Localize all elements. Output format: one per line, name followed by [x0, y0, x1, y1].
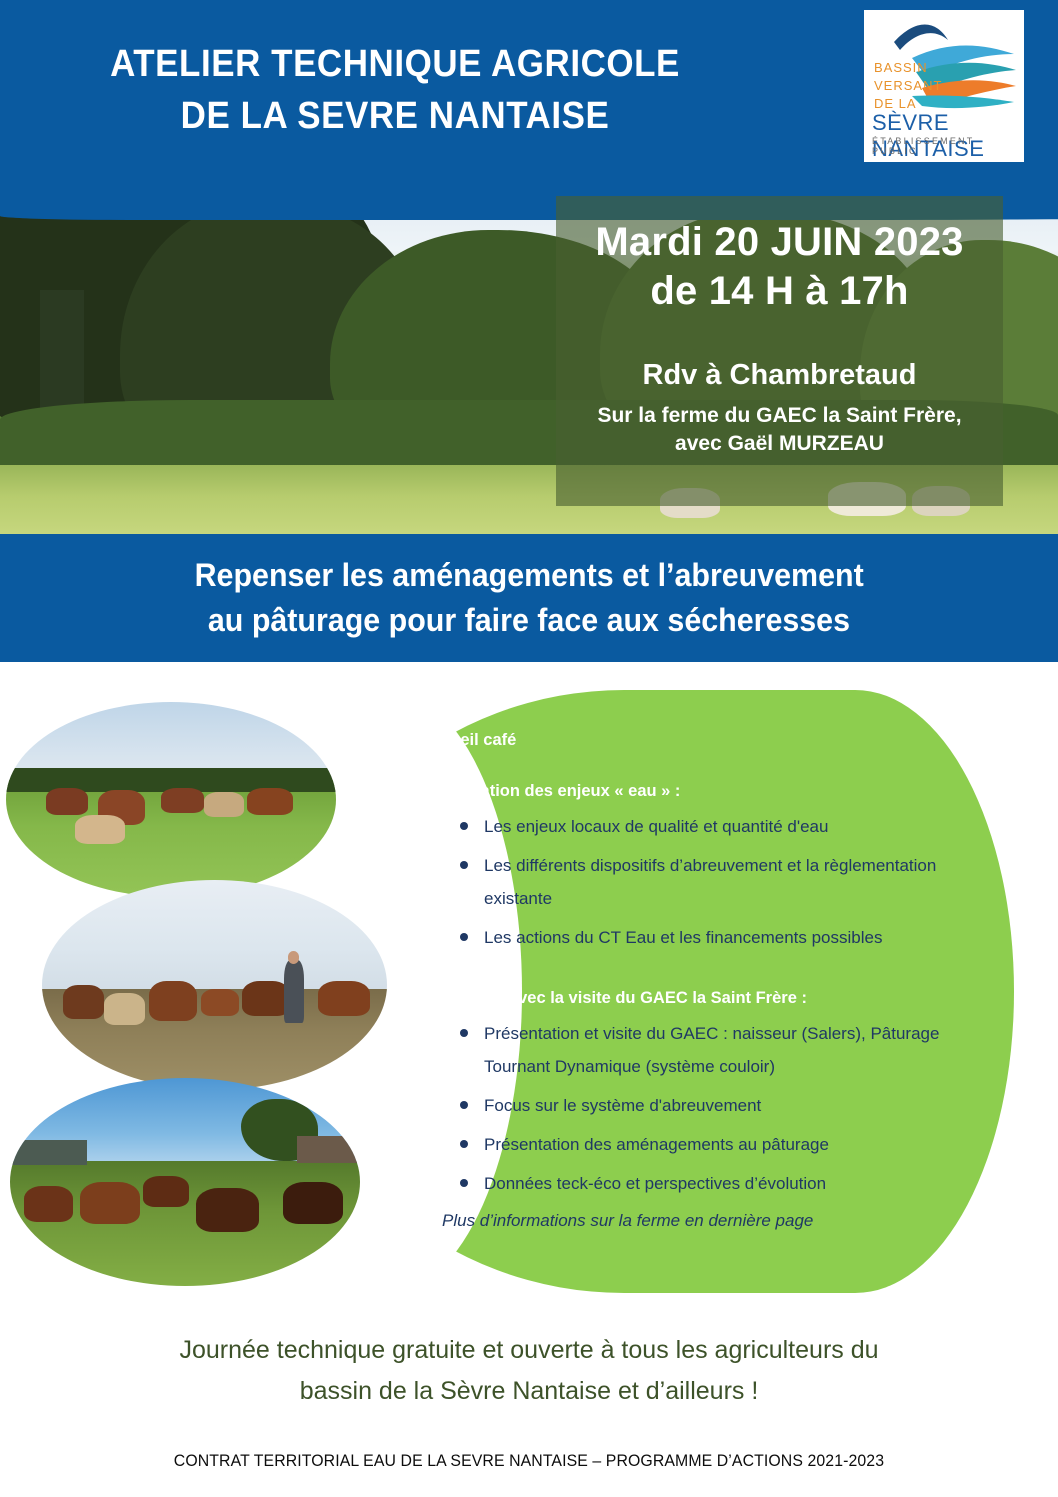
program-section1-list: Les enjeux locaux de qualité et quantité… [420, 810, 960, 955]
oval1-cow-1 [46, 788, 89, 815]
program-welcome: Accueil café [420, 728, 960, 753]
oval2-cow-3 [149, 981, 197, 1021]
closing-line-2: bassin de la Sèvre Nantaise et d’ailleur… [0, 1371, 1058, 1412]
sevre-nantaise-logo: BASSIN VERSANT DE LA SÈVRE NANTAISE ÉTAB… [864, 10, 1024, 162]
list-item-label: Les actions du CT Eau et les financement… [484, 928, 882, 947]
event-farm-line2: avec Gaël MURZEAU [568, 430, 991, 458]
program-content: Accueil café Présentation des enjeux « e… [420, 728, 960, 1235]
oval3-cow-1 [24, 1186, 73, 1221]
subtitle-banner: Repenser les aménagements et l’abreuveme… [0, 534, 1058, 662]
list-item: Focus sur le système d'abreuvement [420, 1089, 960, 1122]
photo-herd-in-pasture [6, 702, 336, 897]
program-section2-list: Présentation et visite du GAEC : naisseu… [420, 1017, 960, 1201]
title-line-1: ATELIER TECHNIQUE AGRICOLE [32, 38, 759, 90]
subtitle-line-1: Repenser les aménagements et l’abreuveme… [194, 553, 863, 598]
oval2-sky [42, 880, 387, 993]
oval3-cow-4 [196, 1188, 259, 1232]
oval2-cow-2 [104, 993, 145, 1025]
bullet-dot-icon [460, 1140, 468, 1148]
program-note: Plus d’informations sur la ferme en dern… [420, 1207, 960, 1236]
photo-cattle-grazing-near-barn [10, 1078, 360, 1286]
oval3-cow-3 [143, 1176, 189, 1207]
list-item: Les actions du CT Eau et les financement… [420, 921, 960, 954]
title-line-2: DE LA SEVRE NANTAISE [32, 90, 759, 142]
oval2-cow-1 [63, 985, 104, 1019]
footer: CONTRAT TERRITORIAL EAU DE LA SEVRE NANT… [0, 1452, 1058, 1471]
event-time: de 14 H à 17h [556, 267, 1003, 316]
program-section2-heading: Illustration avec la visite du GAEC la S… [420, 986, 960, 1011]
program-section1-heading: Présentation des enjeux « eau » : [420, 779, 960, 804]
footer-text: CONTRAT TERRITORIAL EAU DE LA SEVRE NANT… [174, 1452, 884, 1471]
list-item: Les différents dispositifs d’abreuvement… [420, 849, 960, 915]
oval1-cow-4 [161, 788, 204, 813]
list-item: Présentation des aménagements au pâturag… [420, 1128, 960, 1161]
oval3-barn-right [297, 1136, 360, 1163]
program-spacer-1 [420, 753, 960, 779]
bullet-dot-icon [460, 822, 468, 830]
oval3-barn [10, 1140, 87, 1165]
list-item: Données teck-éco et perspectives d’évolu… [420, 1167, 960, 1200]
oval3-cow-2 [80, 1182, 140, 1224]
photo-farmer-with-herd [42, 880, 387, 1090]
program-spacer-2 [420, 960, 960, 986]
list-item: Présentation et visite du GAEC : naisseu… [420, 1017, 960, 1083]
list-item-label: Présentation et visite du GAEC : naisseu… [484, 1024, 939, 1076]
subtitle-line-2: au pâturage pour faire face aux sécheres… [208, 598, 850, 643]
list-item-label: Données teck-éco et perspectives d’évolu… [484, 1174, 826, 1193]
list-item: Les enjeux locaux de qualité et quantité… [420, 810, 960, 843]
oval2-cow-4 [201, 989, 239, 1016]
oval1-cow-6 [247, 788, 293, 815]
logo-text-subtitle: ÉTABLISSEMENT PUBLIC [872, 136, 1024, 156]
oval2-farmer [284, 960, 305, 1023]
logo-text-dela: DE LA [874, 96, 917, 111]
list-item-label: Focus sur le système d'abreuvement [484, 1096, 761, 1115]
closing-message: Journée technique gratuite et ouverte à … [0, 1330, 1058, 1411]
logo-text-versant: VERSANT [874, 78, 942, 93]
bullet-dot-icon [460, 933, 468, 941]
oval1-cow-5 [204, 792, 244, 817]
oval1-cow-3 [75, 815, 125, 844]
bullet-dot-icon [460, 861, 468, 869]
logo-text-bassin: BASSIN [874, 60, 928, 75]
list-item-label: Présentation des aménagements au pâturag… [484, 1135, 829, 1154]
list-item-label: Les différents dispositifs d’abreuvement… [484, 856, 936, 908]
list-item-label: Les enjeux locaux de qualité et quantité… [484, 817, 828, 836]
oval3-cow-5 [283, 1182, 343, 1224]
closing-line-1: Journée technique gratuite et ouverte à … [0, 1330, 1058, 1371]
bullet-dot-icon [460, 1101, 468, 1109]
event-farm-line1: Sur la ferme du GAEC la Saint Frère, [568, 402, 991, 430]
page-title: ATELIER TECHNIQUE AGRICOLE DE LA SEVRE N… [0, 38, 790, 143]
bullet-dot-icon [460, 1029, 468, 1037]
event-date: Mardi 20 JUIN 2023 [556, 218, 1003, 267]
event-meeting-point: Rdv à Chambretaud [556, 358, 1003, 393]
event-farm-info: Sur la ferme du GAEC la Saint Frère, ave… [556, 402, 1003, 457]
bullet-dot-icon [460, 1179, 468, 1187]
oval2-cow-6 [318, 981, 370, 1017]
event-details-panel: Mardi 20 JUIN 2023 de 14 H à 17h Rdv à C… [556, 196, 1003, 506]
